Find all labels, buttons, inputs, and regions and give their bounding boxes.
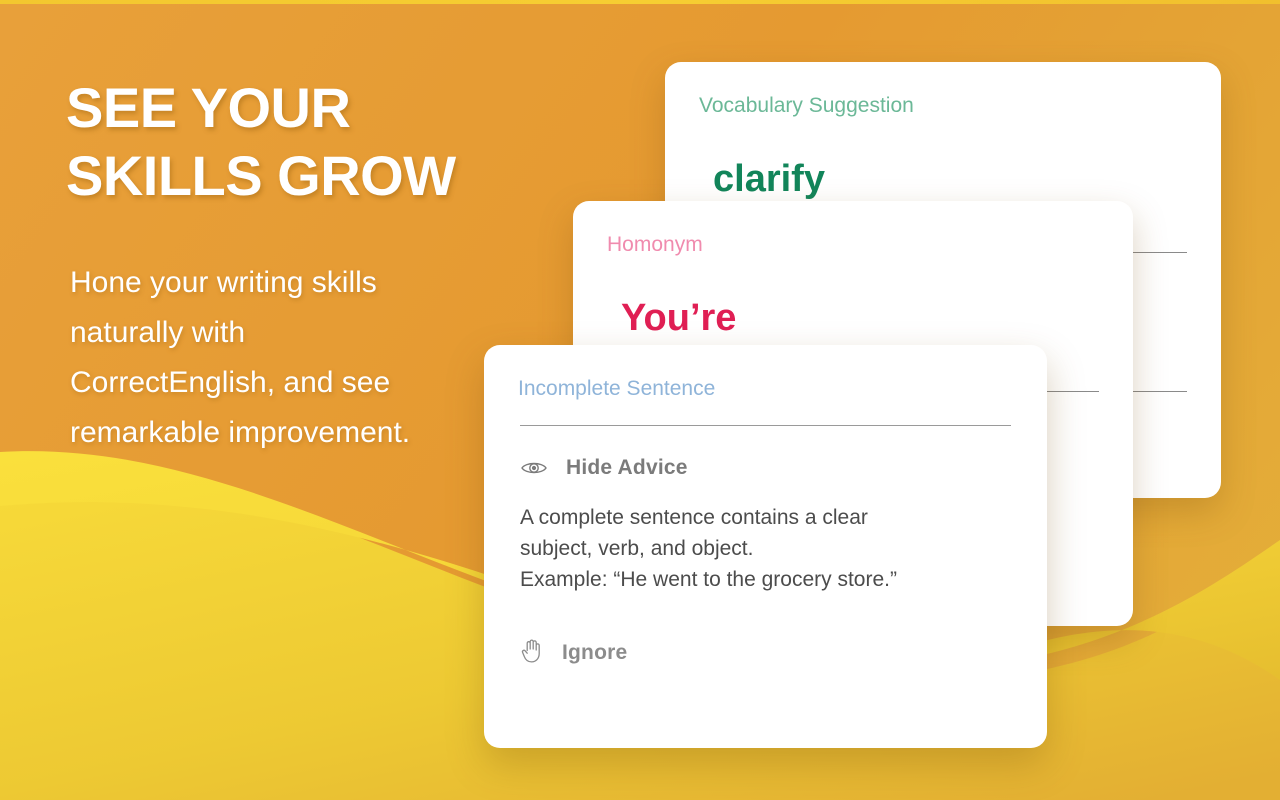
hide-advice-label: Hide Advice bbox=[566, 456, 688, 480]
suggested-word-homonym: You’re bbox=[621, 297, 1099, 339]
headline-line-2: SKILLS GROW bbox=[66, 142, 536, 210]
card-incomplete-sentence[interactable]: Incomplete Sentence Hide Advice A comple… bbox=[484, 345, 1047, 748]
hide-advice-button[interactable]: Hide Advice bbox=[520, 456, 1013, 480]
card-label-incomplete-sentence: Incomplete Sentence bbox=[518, 375, 1013, 403]
ignore-button[interactable]: Ignore bbox=[520, 637, 1013, 668]
raised-hand-icon bbox=[520, 637, 544, 668]
suggested-word-vocabulary: clarify bbox=[713, 158, 1187, 200]
hero-subcopy: Hone your writing skills naturally with … bbox=[70, 258, 420, 458]
hero-copy: SEE YOUR SKILLS GROW Hone your writing s… bbox=[66, 74, 536, 458]
card-label-vocabulary: Vocabulary Suggestion bbox=[699, 92, 1187, 120]
promo-slide: SEE YOUR SKILLS GROW Hone your writing s… bbox=[0, 0, 1280, 800]
card-label-homonym: Homonym bbox=[607, 231, 1099, 259]
advice-body: A complete sentence contains a clear sub… bbox=[520, 502, 1013, 595]
advice-line-1: A complete sentence contains a clear bbox=[520, 502, 1013, 533]
top-accent-strip bbox=[0, 0, 1280, 4]
ignore-label: Ignore bbox=[562, 641, 627, 665]
advice-line-2: subject, verb, and object. bbox=[520, 533, 1013, 564]
page-title: SEE YOUR SKILLS GROW bbox=[66, 74, 536, 210]
advice-line-3: Example: “He went to the grocery store.” bbox=[520, 564, 1013, 595]
eye-icon bbox=[520, 460, 548, 476]
card-divider-incomplete bbox=[520, 425, 1011, 426]
headline-line-1: SEE YOUR bbox=[66, 74, 536, 142]
